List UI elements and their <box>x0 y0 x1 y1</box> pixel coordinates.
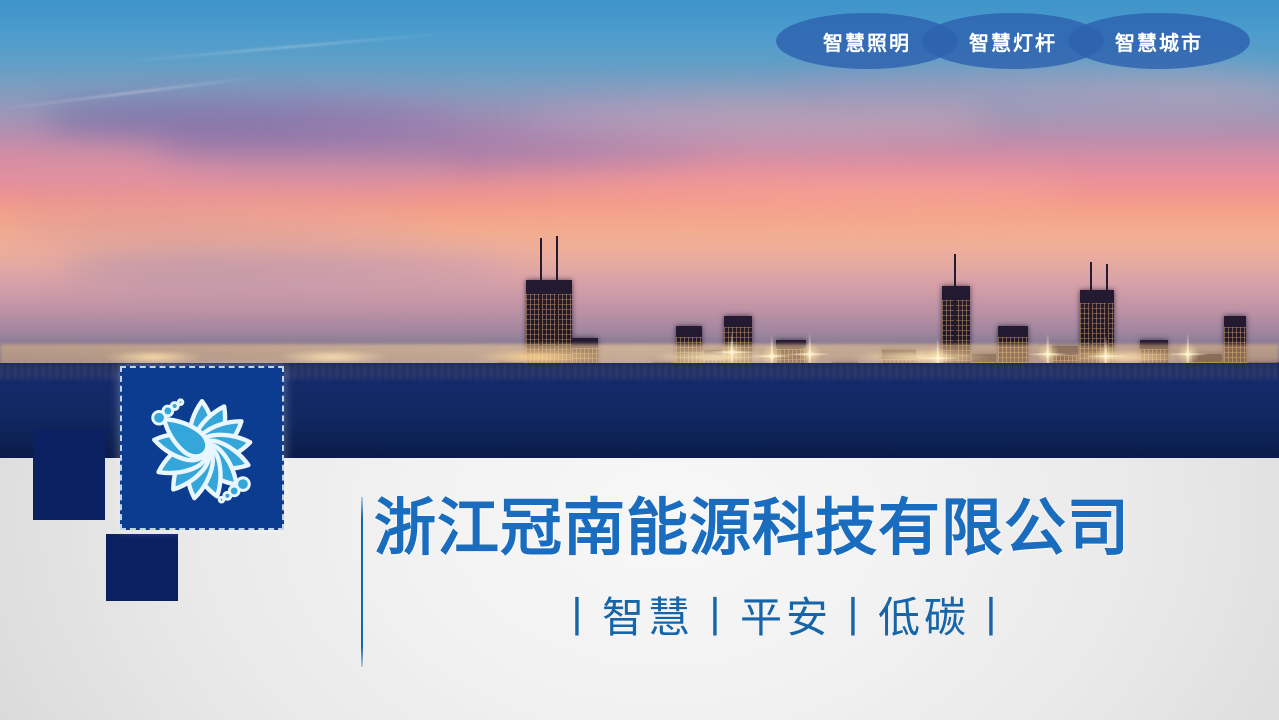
company-logo <box>120 366 284 530</box>
badge-label: 智慧灯杆 <box>969 27 1057 56</box>
page-title: 浙江冠南能源科技有限公司 <box>374 495 1130 560</box>
badge-label: 智慧照明 <box>823 27 911 56</box>
cloud-band <box>380 176 1080 210</box>
page-subtitle: 丨智慧丨平安丨低碳丨 <box>556 596 1016 640</box>
decorative-square-upper <box>33 430 105 520</box>
badge-label: 智慧城市 <box>1115 27 1203 56</box>
decorative-square-lower <box>106 534 178 601</box>
cloud-band <box>780 68 1279 116</box>
tagline-badge-group: 智慧照明 智慧灯杆 智慧城市 <box>776 13 1236 69</box>
badge-smart-city[interactable]: 智慧城市 <box>1068 13 1250 69</box>
cover-slide: 智慧照明 智慧灯杆 智慧城市 <box>0 0 1279 720</box>
title-accent-rule <box>361 497 363 667</box>
